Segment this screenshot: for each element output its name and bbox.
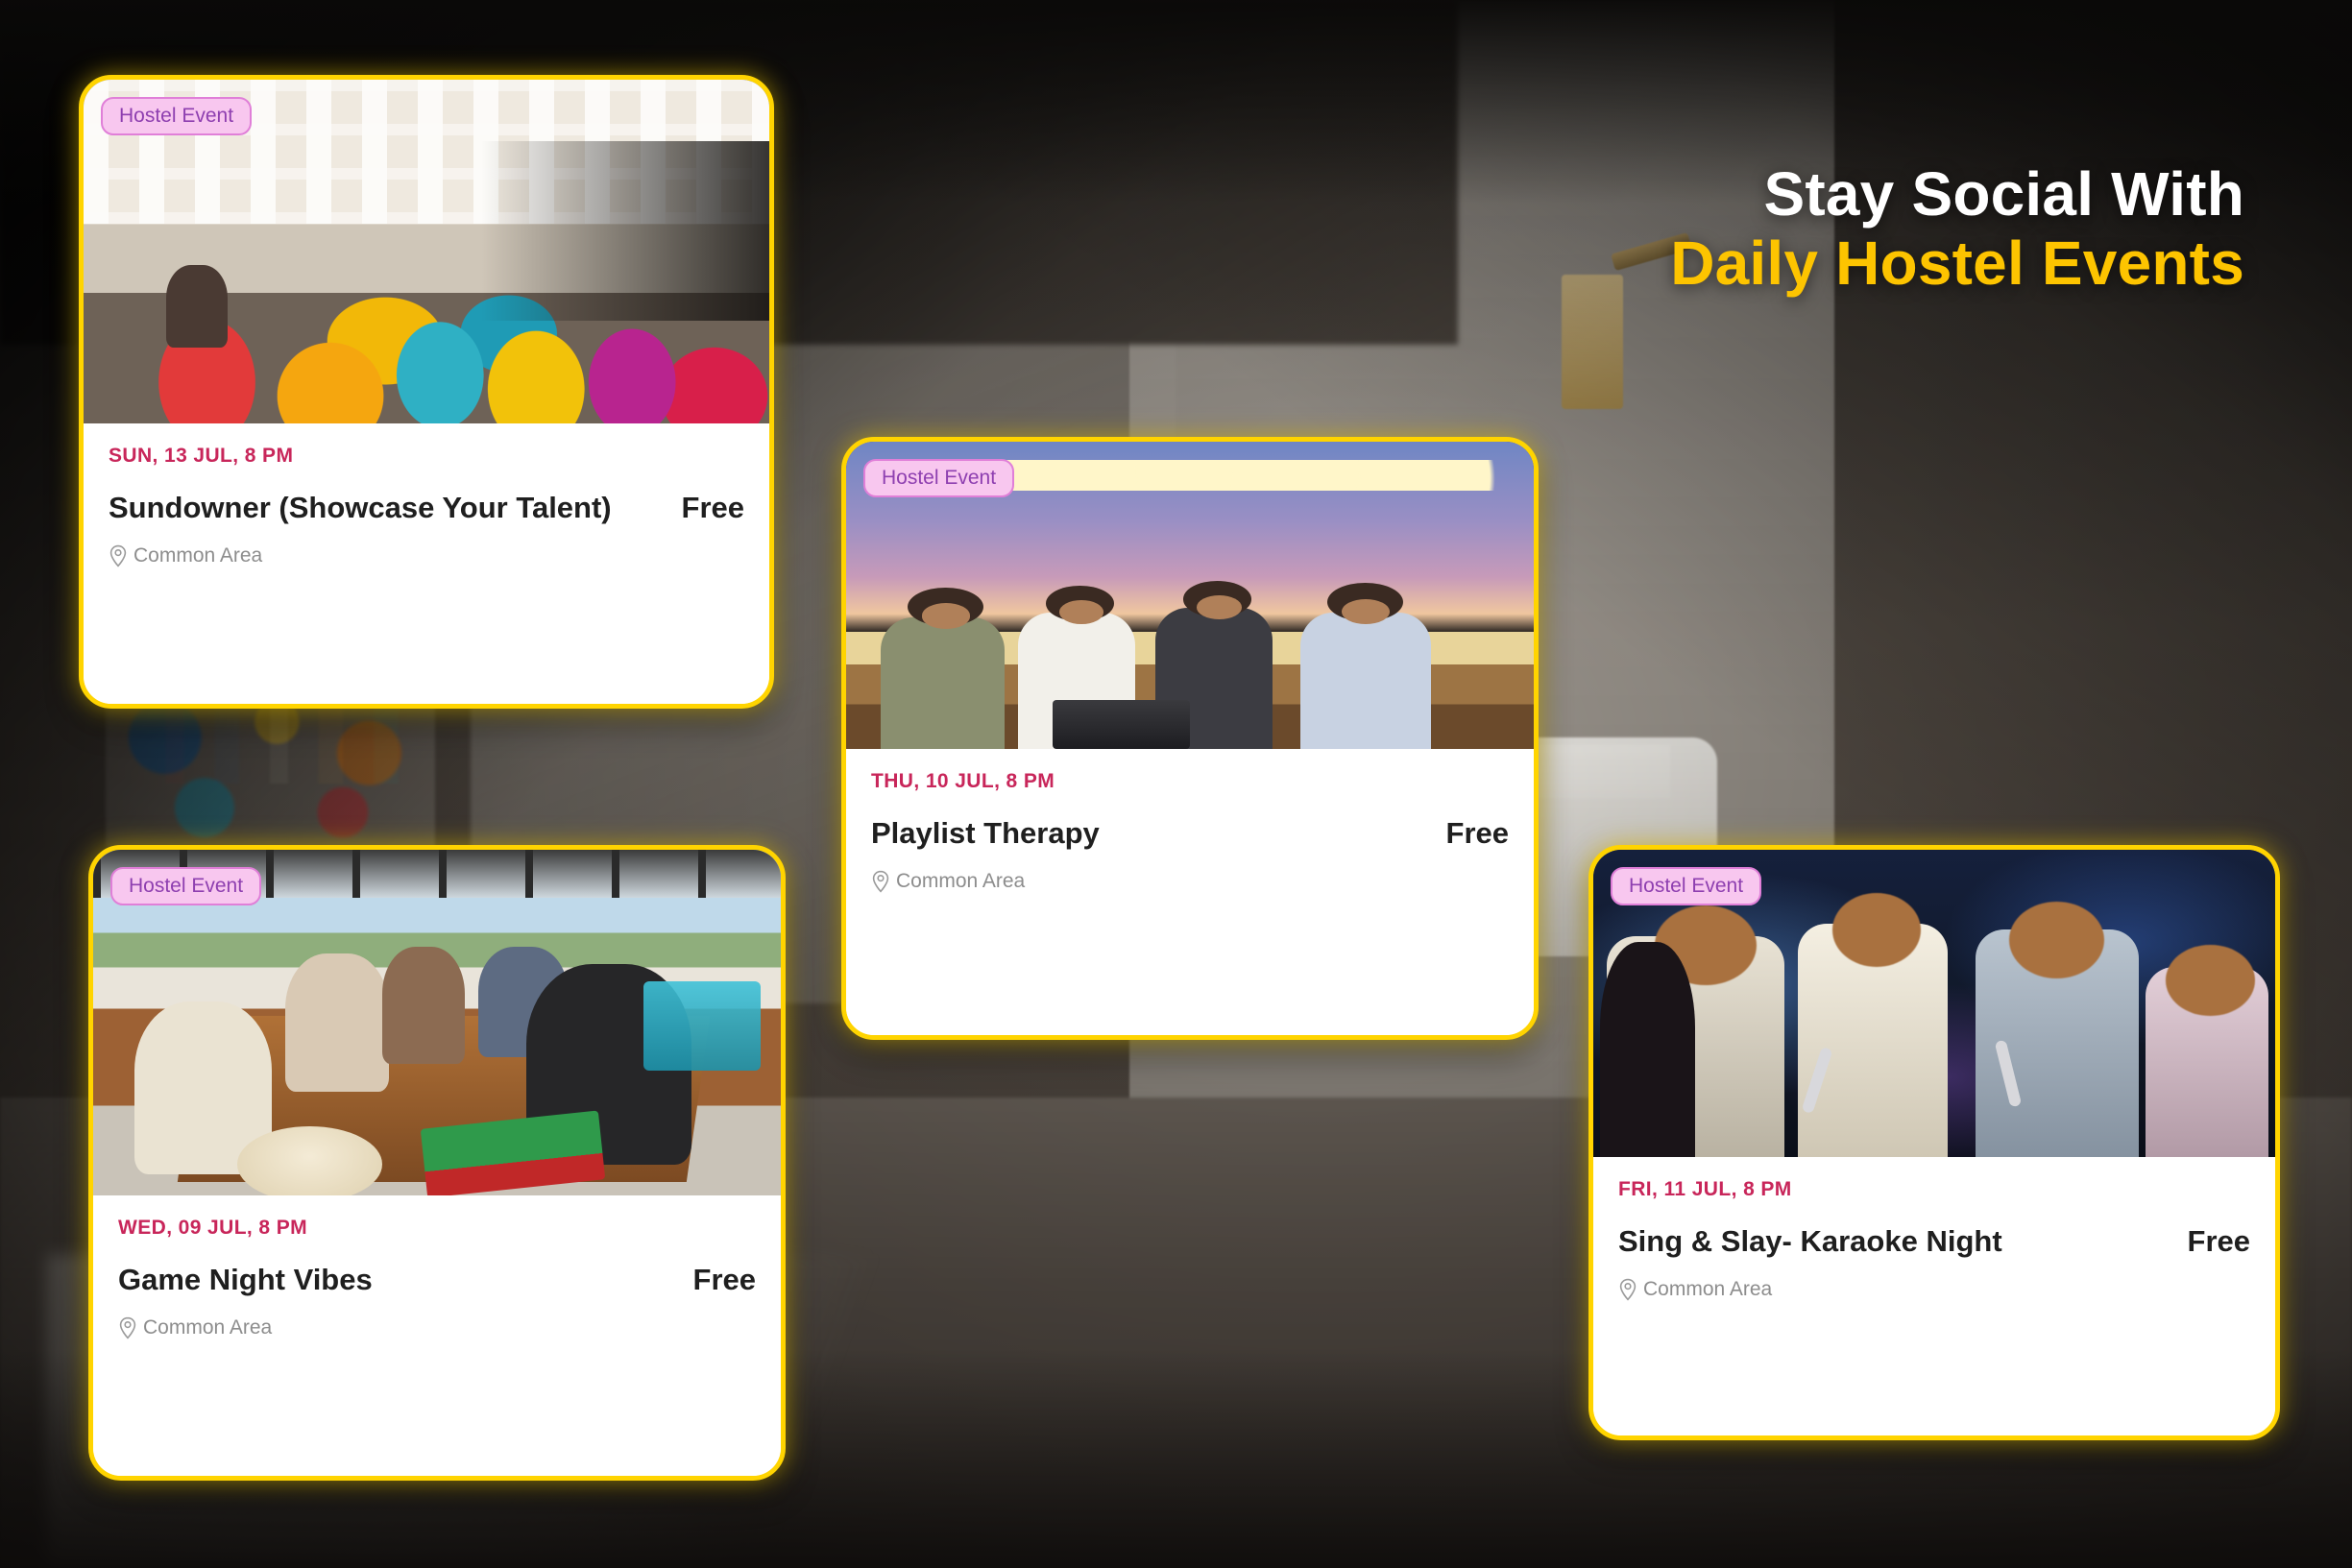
- event-price: Free: [693, 1263, 756, 1297]
- event-date: THU, 10 JUL, 8 PM: [871, 770, 1509, 793]
- map-pin-icon: [871, 870, 890, 893]
- event-title-row: Game Night Vibes Free: [118, 1263, 756, 1297]
- event-card-image: Hostel Event: [846, 442, 1534, 749]
- event-location: Common Area: [871, 870, 1509, 893]
- event-card-body: WED, 09 JUL, 8 PM Game Night Vibes Free …: [93, 1195, 781, 1476]
- event-location: Common Area: [1618, 1278, 2250, 1301]
- event-title-row: Sing & Slay- Karaoke Night Free: [1618, 1224, 2250, 1259]
- event-card-playlist-therapy[interactable]: Hostel Event THU, 10 JUL, 8 PM Playlist …: [841, 437, 1539, 1040]
- event-card-image: Hostel Event: [93, 850, 781, 1195]
- event-price: Free: [682, 491, 744, 525]
- event-card-game-night-vibes[interactable]: Hostel Event WED, 09 JUL, 8 PM Game Nigh…: [88, 845, 786, 1481]
- event-location-label: Common Area: [133, 544, 262, 567]
- map-pin-icon: [1618, 1278, 1637, 1301]
- event-location-label: Common Area: [143, 1316, 272, 1339]
- event-location-label: Common Area: [1643, 1278, 1772, 1301]
- event-card-image: Hostel Event: [1593, 850, 2275, 1157]
- event-title-row: Playlist Therapy Free: [871, 816, 1509, 851]
- event-price: Free: [1446, 816, 1509, 851]
- map-pin-icon: [109, 544, 128, 567]
- event-title: Playlist Therapy: [871, 816, 1100, 851]
- event-price: Free: [2188, 1224, 2250, 1259]
- event-card-body: FRI, 11 JUL, 8 PM Sing & Slay- Karaoke N…: [1593, 1157, 2275, 1435]
- event-card-karaoke-night[interactable]: Hostel Event FRI, 11 JUL, 8 PM Sing & Sl…: [1588, 845, 2280, 1440]
- event-card-image: Hostel Event: [84, 80, 769, 423]
- map-pin-icon: [118, 1316, 137, 1339]
- event-card-body: SUN, 13 JUL, 8 PM Sundowner (Showcase Yo…: [84, 423, 769, 704]
- event-title: Game Night Vibes: [118, 1263, 373, 1297]
- event-title: Sundowner (Showcase Your Talent): [109, 491, 612, 525]
- headline-line-2: Daily Hostel Events: [1670, 228, 2244, 301]
- event-date: WED, 09 JUL, 8 PM: [118, 1217, 756, 1240]
- event-title: Sing & Slay- Karaoke Night: [1618, 1224, 2002, 1259]
- event-location: Common Area: [109, 544, 744, 567]
- hostel-event-badge: Hostel Event: [101, 97, 252, 135]
- event-date: FRI, 11 JUL, 8 PM: [1618, 1178, 2250, 1201]
- event-card-sundowner[interactable]: Hostel Event SUN, 13 JUL, 8 PM Sundowner…: [79, 75, 774, 709]
- event-location: Common Area: [118, 1316, 756, 1339]
- headline: Stay Social With Daily Hostel Events: [1670, 161, 2244, 301]
- event-card-body: THU, 10 JUL, 8 PM Playlist Therapy Free …: [846, 749, 1534, 1035]
- hostel-event-badge: Hostel Event: [110, 867, 261, 905]
- headline-line-1: Stay Social With: [1670, 161, 2244, 228]
- hostel-event-badge: Hostel Event: [863, 459, 1014, 497]
- hostel-event-badge: Hostel Event: [1611, 867, 1761, 905]
- event-title-row: Sundowner (Showcase Your Talent) Free: [109, 491, 744, 525]
- event-date: SUN, 13 JUL, 8 PM: [109, 445, 744, 468]
- event-location-label: Common Area: [896, 870, 1025, 893]
